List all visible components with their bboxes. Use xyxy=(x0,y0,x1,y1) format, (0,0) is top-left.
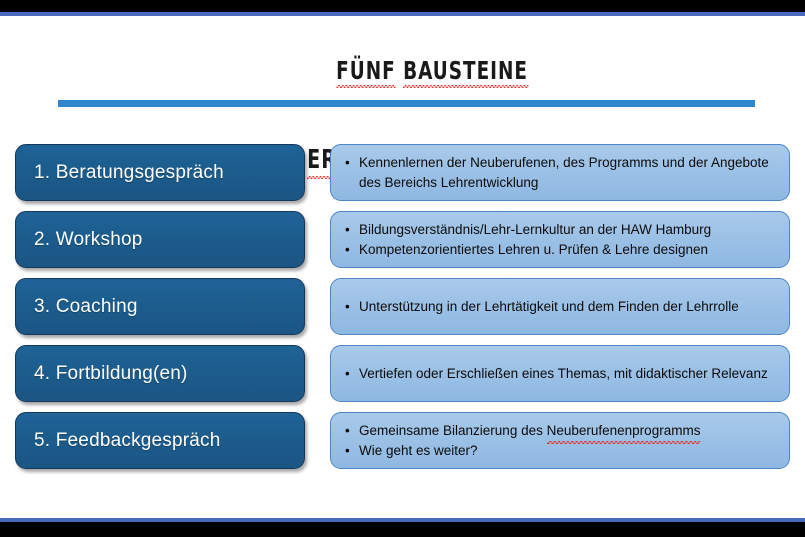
slide-canvas: FÜNF BAUSTEINE IN DEN ERSTEN DREI DIENST… xyxy=(0,16,805,518)
building-block-row: 5. Feedbackgespräch•Gemeinsame Bilanzier… xyxy=(0,412,805,469)
building-block-row: 1. Beratungsgespräch•Kennenlernen der Ne… xyxy=(0,144,805,201)
building-block-title-box[interactable]: 4. Fortbildung(en) xyxy=(15,345,305,402)
bullet-item: •Bildungsverständnis/Lehr-Lernkultur an … xyxy=(345,220,777,239)
bullet-text: Gemeinsame Bilanzierung des Neuberufenen… xyxy=(359,421,777,440)
building-block-title-label: 2. Workshop xyxy=(34,229,143,251)
building-block-title-label: 3. Coaching xyxy=(34,296,138,318)
building-block-detail-box[interactable]: •Vertiefen oder Erschließen eines Themas… xyxy=(330,345,790,402)
building-block-row: 4. Fortbildung(en)•Vertiefen oder Erschl… xyxy=(0,345,805,402)
slide-root: FÜNF BAUSTEINE IN DEN ERSTEN DREI DIENST… xyxy=(0,0,805,537)
bullet-item: •Vertiefen oder Erschließen eines Themas… xyxy=(345,364,777,383)
bullet-dot-icon: • xyxy=(345,297,359,316)
letterbox-bottom xyxy=(0,522,805,537)
building-blocks-list: 1. Beratungsgespräch•Kennenlernen der Ne… xyxy=(0,144,805,479)
bullet-text: Vertiefen oder Erschließen eines Themas,… xyxy=(359,364,777,383)
bullet-dot-icon: • xyxy=(345,220,359,239)
title-space xyxy=(396,56,403,85)
building-block-detail-box[interactable]: •Gemeinsame Bilanzierung des Neuberufene… xyxy=(330,412,790,469)
title-accent-bar xyxy=(58,100,755,107)
bullet-text: Kompetenzorientiertes Lehren u. Prüfen &… xyxy=(359,240,777,259)
building-block-title-box[interactable]: 3. Coaching xyxy=(15,278,305,335)
bullet-text: Unterstützung in der Lehrtätigkeit und d… xyxy=(359,297,777,316)
building-block-detail-box[interactable]: •Unterstützung in der Lehrtätigkeit und … xyxy=(330,278,790,335)
misspelled-word: Neuberufenenprogramms xyxy=(547,421,701,440)
building-block-title-box[interactable]: 1. Beratungsgespräch xyxy=(15,144,305,201)
bullet-dot-icon: • xyxy=(345,421,359,440)
title-word: BAUSTEINE xyxy=(403,56,528,86)
bullet-dot-icon: • xyxy=(345,153,359,172)
building-block-detail-box[interactable]: •Kennenlernen der Neuberufenen, des Prog… xyxy=(330,144,790,201)
building-block-row: 2. Workshop•Bildungsverständnis/Lehr-Ler… xyxy=(0,211,805,268)
bullet-item: •Kompetenzorientiertes Lehren u. Prüfen … xyxy=(345,240,777,259)
building-block-title-label: 1. Beratungsgespräch xyxy=(34,162,224,184)
building-block-title-box[interactable]: 2. Workshop xyxy=(15,211,305,268)
building-block-title-box[interactable]: 5. Feedbackgespräch xyxy=(15,412,305,469)
bullet-item: •Gemeinsame Bilanzierung des Neuberufene… xyxy=(345,421,777,440)
bullet-item: •Kennenlernen der Neuberufenen, des Prog… xyxy=(345,153,777,191)
title-word: FÜNF xyxy=(336,56,396,86)
bullet-dot-icon: • xyxy=(345,364,359,383)
building-block-row: 3. Coaching•Unterstützung in der Lehrtät… xyxy=(0,278,805,335)
bullet-dot-icon: • xyxy=(345,240,359,259)
bullet-item: •Unterstützung in der Lehrtätigkeit und … xyxy=(345,297,777,316)
building-block-title-label: 5. Feedbackgespräch xyxy=(34,430,221,452)
bullet-dot-icon: • xyxy=(345,441,359,460)
letterbox-top xyxy=(0,0,805,12)
bullet-text: Bildungsverständnis/Lehr-Lernkultur an d… xyxy=(359,220,777,239)
building-block-detail-box[interactable]: •Bildungsverständnis/Lehr-Lernkultur an … xyxy=(330,211,790,268)
bullet-text: Kennenlernen der Neuberufenen, des Progr… xyxy=(359,153,777,191)
building-block-title-label: 4. Fortbildung(en) xyxy=(34,363,188,385)
